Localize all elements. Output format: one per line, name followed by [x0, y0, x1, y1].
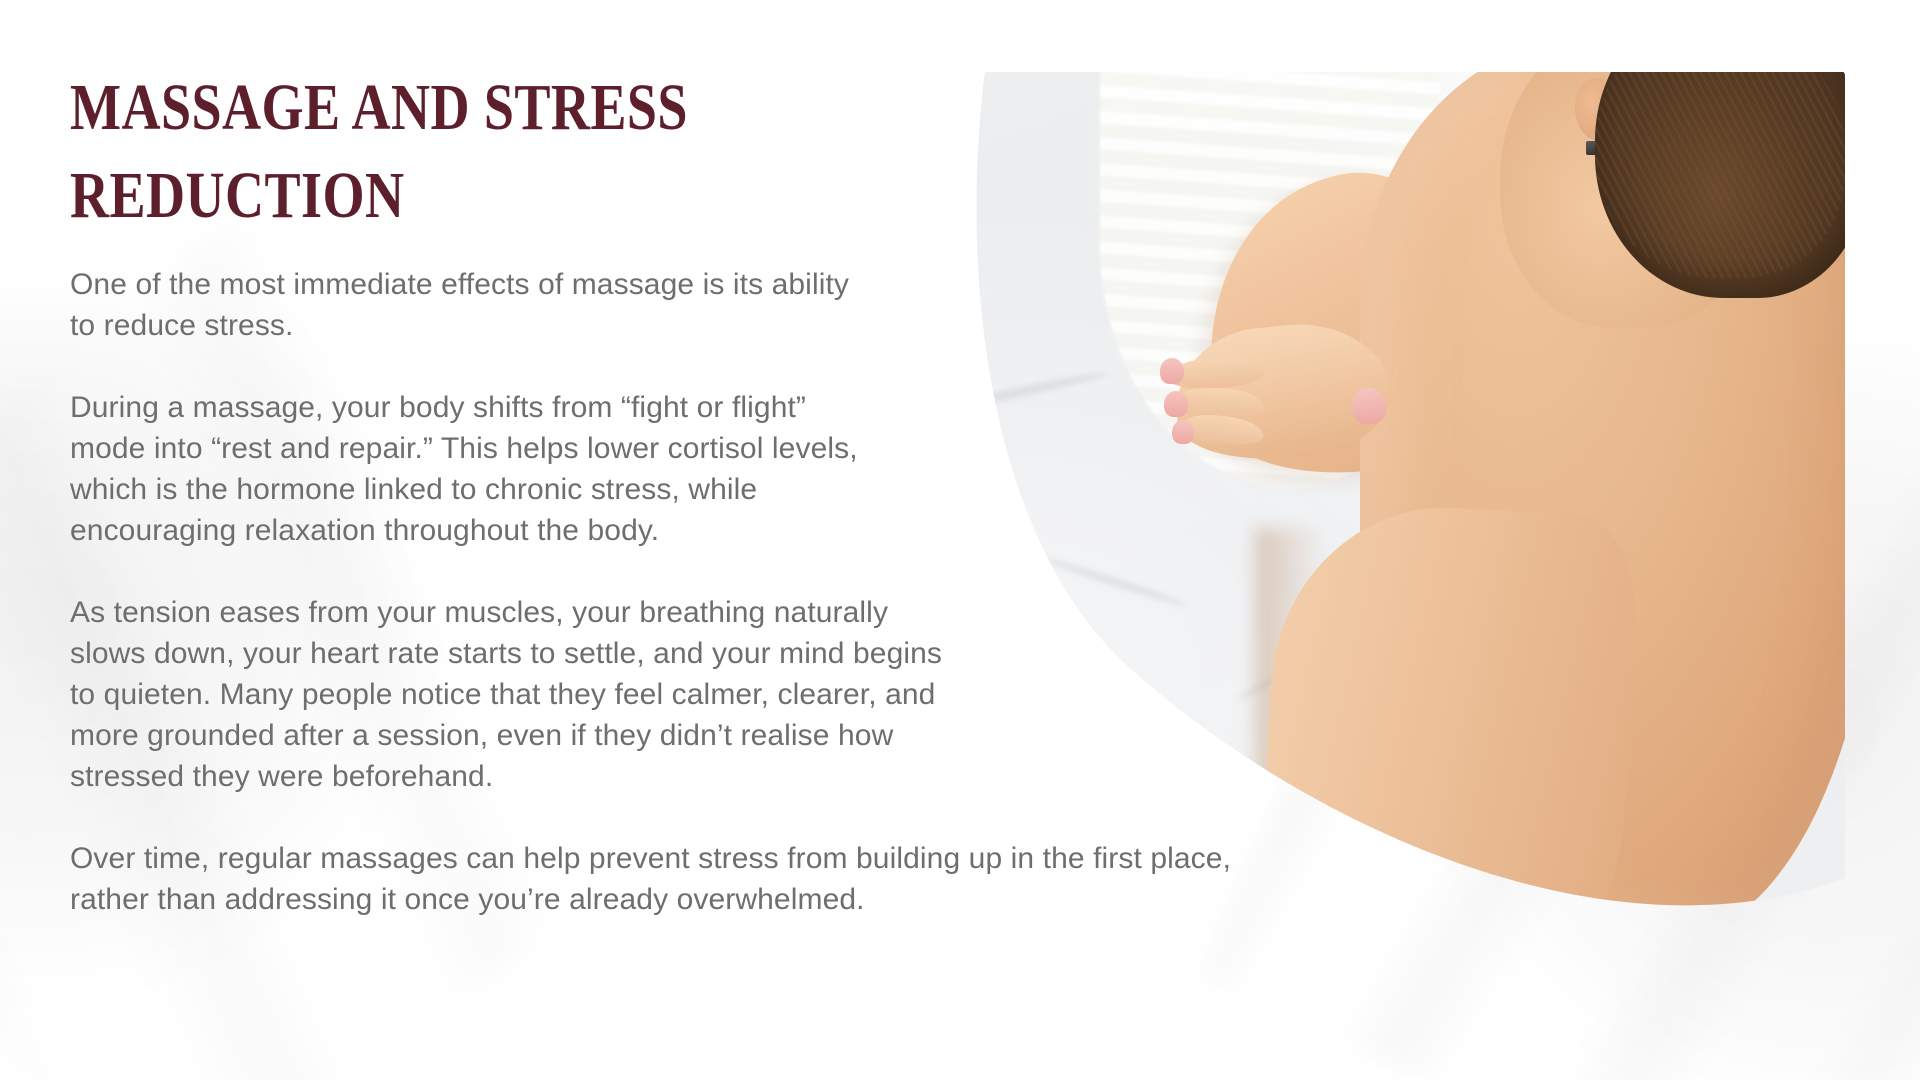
page-title: Massage and stress reduction — [70, 0, 972, 240]
slide-canvas: Massage and stress reduction One of the … — [0, 0, 1920, 1080]
paragraph-2: During a massage, your body shifts from … — [70, 387, 870, 551]
paragraph-3: As tension eases from your muscles, your… — [70, 592, 950, 797]
paragraph-4: Over time, regular massages can help pre… — [70, 838, 1280, 920]
body-copy: One of the most immediate effects of mas… — [70, 264, 1280, 920]
text-column: Massage and stress reduction One of the … — [70, 0, 1280, 920]
hair-strands — [1595, 58, 1845, 278]
paragraph-1: One of the most immediate effects of mas… — [70, 264, 860, 346]
